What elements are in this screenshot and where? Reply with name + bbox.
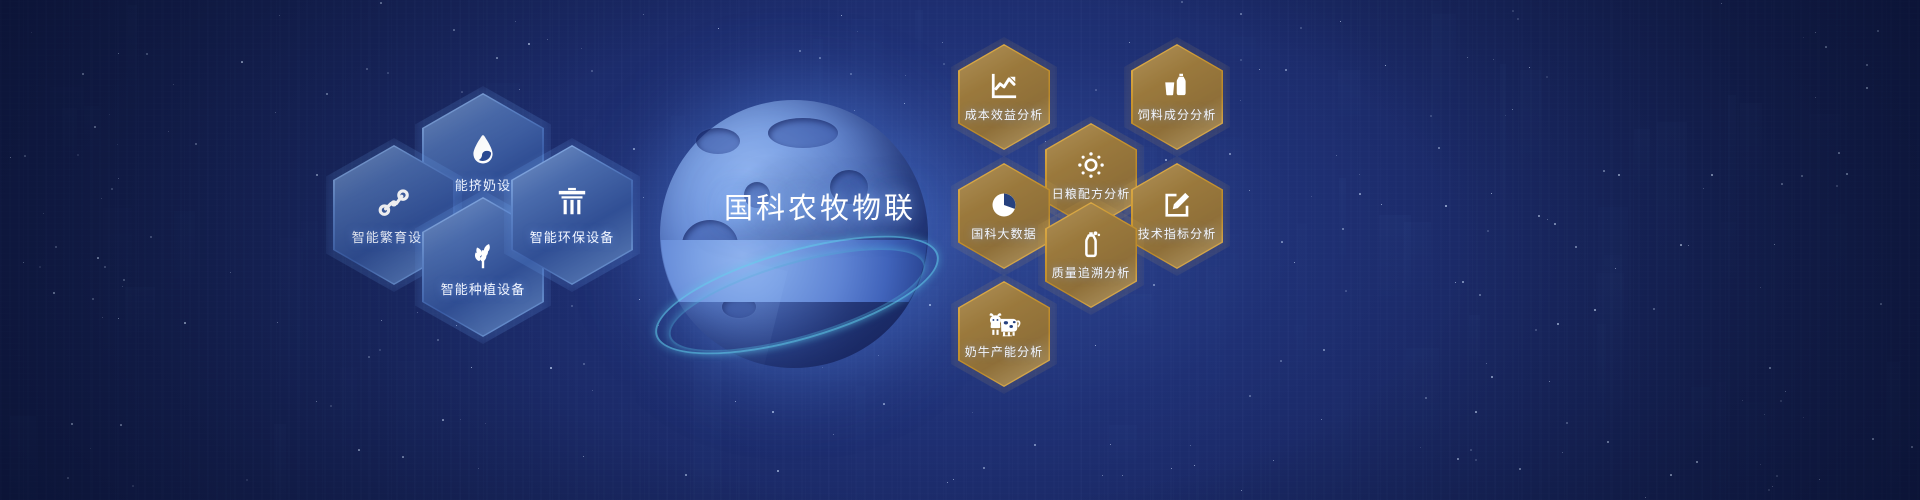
hex-technical-index-analysis[interactable]: 技术指标分析 — [1131, 163, 1223, 269]
milk-bottle-cup-icon — [1162, 71, 1192, 101]
hex-cost-benefit-analysis[interactable]: 成本效益分析 — [958, 44, 1050, 150]
hex-guoke-big-data[interactable]: 国科大数据 — [958, 163, 1050, 269]
plant-sprout-icon — [465, 236, 501, 272]
hex-label: 技术指标分析 — [1138, 225, 1217, 242]
hex-label: 国科大数据 — [971, 225, 1037, 242]
pie-chart-icon — [989, 190, 1019, 220]
hex-label: 质量追溯分析 — [1052, 264, 1131, 281]
line-chart-icon — [989, 71, 1019, 101]
hex-label: 成本效益分析 — [965, 106, 1044, 123]
hex-label: 饲料成分分析 — [1138, 106, 1217, 123]
milk-bottle-icon — [1076, 229, 1106, 259]
node-network-icon — [376, 184, 412, 220]
hero-banner: 国科农牧物联 智能挤奶设备 智能繁育设备 — [0, 0, 1920, 500]
edit-pencil-icon — [1162, 190, 1192, 220]
hex-quality-traceability-analysis[interactable]: 质量追溯分析 — [1045, 202, 1137, 308]
milk-drop-icon — [465, 132, 501, 168]
hex-cow-capacity-analysis[interactable]: 奶牛产能分析 — [958, 281, 1050, 387]
sun-icon — [1076, 150, 1106, 180]
trash-bin-icon — [554, 184, 590, 220]
page-title: 国科农牧物联 — [700, 185, 940, 227]
hex-label: 智能环保设备 — [530, 227, 615, 246]
hex-smart-environmental-equipment[interactable]: 智能环保设备 — [511, 145, 633, 285]
hex-label: 奶牛产能分析 — [965, 343, 1044, 360]
hex-feed-composition-analysis[interactable]: 饲料成分分析 — [1131, 44, 1223, 150]
cow-icon — [986, 309, 1022, 339]
